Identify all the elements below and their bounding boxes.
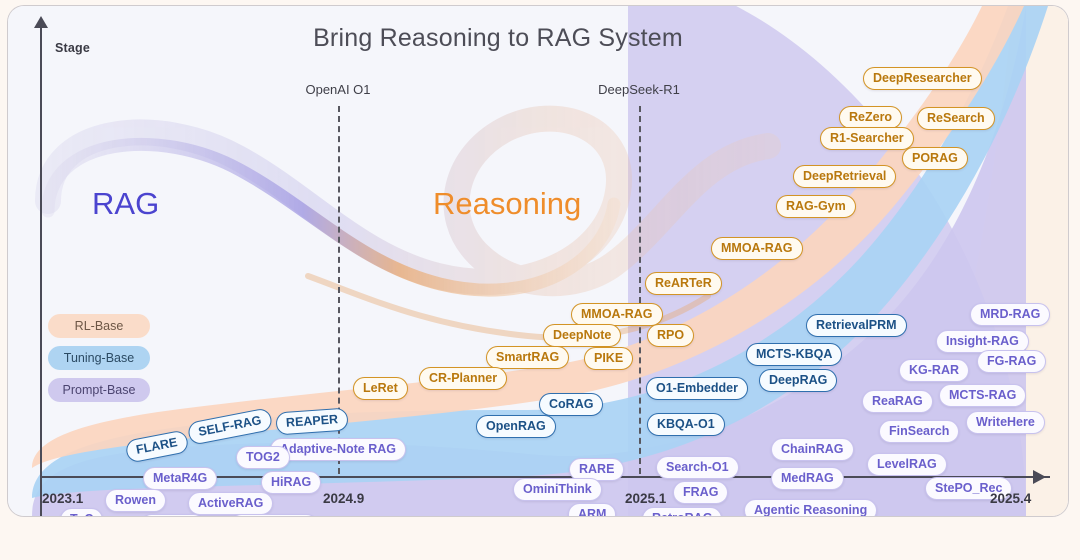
method-pill[interactable]: LeRet bbox=[353, 377, 408, 400]
event-marker-label: OpenAI O1 bbox=[305, 82, 370, 97]
method-pill[interactable]: WriteHere bbox=[966, 411, 1045, 434]
method-pill[interactable]: ReARTeR bbox=[645, 272, 722, 295]
method-pill[interactable]: MRD-RAG bbox=[970, 303, 1050, 326]
diagram-root: Stage Bring Reasoning to RAG System RAG … bbox=[0, 0, 1080, 560]
method-pill[interactable]: O1-Embedder bbox=[646, 377, 748, 400]
method-pill[interactable]: RetrievalPRM bbox=[806, 314, 907, 337]
method-pill[interactable]: ReSearch bbox=[917, 107, 995, 130]
method-pill[interactable]: PORAG bbox=[902, 147, 968, 170]
method-pill[interactable]: CR-Planner bbox=[419, 367, 507, 390]
method-pill[interactable]: RPO bbox=[647, 324, 694, 347]
method-pill[interactable]: Adaptive-Note RAG bbox=[270, 438, 406, 461]
method-pill[interactable]: KBQA-O1 bbox=[647, 413, 725, 436]
method-pill[interactable]: CoRAG bbox=[539, 393, 603, 416]
method-pill[interactable]: FinSearch bbox=[879, 420, 959, 443]
method-pill[interactable]: FRAG bbox=[673, 481, 728, 504]
method-pill[interactable]: R1-Searcher bbox=[820, 127, 914, 150]
method-pill[interactable]: ReaRAG bbox=[862, 390, 933, 413]
ribbon-word-rag: RAG bbox=[92, 186, 159, 222]
method-pill[interactable]: FG-RAG bbox=[977, 350, 1046, 373]
method-pill[interactable]: HiRAG bbox=[261, 471, 321, 494]
chart-panel: Stage Bring Reasoning to RAG System RAG … bbox=[8, 6, 1068, 516]
x-axis-tick: 2024.9 bbox=[323, 491, 364, 506]
method-pill[interactable]: CO-STORM bbox=[230, 514, 318, 516]
method-pill[interactable]: DeepRetrieval bbox=[793, 165, 896, 188]
legend-item-tuning-base[interactable]: Tuning-Base bbox=[48, 346, 150, 370]
method-pill[interactable]: Agentic Reasoning bbox=[744, 499, 877, 516]
method-pill[interactable]: DeepRAG bbox=[759, 369, 837, 392]
x-axis-tick: 2025.4 bbox=[990, 491, 1031, 506]
x-axis-tick: 2025.1 bbox=[625, 491, 666, 506]
method-pill[interactable]: DeepResearcher bbox=[863, 67, 982, 90]
method-pill[interactable]: STORM bbox=[140, 514, 205, 516]
method-pill[interactable]: ToC bbox=[60, 508, 103, 516]
page-title: Bring Reasoning to RAG System bbox=[8, 24, 1028, 53]
method-pill[interactable]: RetroRAG bbox=[642, 507, 722, 516]
method-pill[interactable]: TOG2 bbox=[236, 446, 290, 469]
method-pill[interactable]: RAG-Gym bbox=[776, 195, 856, 218]
method-pill[interactable]: ReZero bbox=[839, 106, 902, 129]
method-pill[interactable]: MedRAG bbox=[771, 467, 844, 490]
legend-item-prompt-base[interactable]: Prompt-Base bbox=[48, 378, 150, 402]
event-marker-label: DeepSeek-R1 bbox=[598, 82, 680, 97]
method-pill[interactable]: ChainRAG bbox=[771, 438, 854, 461]
legend-item-rl-base[interactable]: RL-Base bbox=[48, 314, 150, 338]
method-pill[interactable]: OpenRAG bbox=[476, 415, 556, 438]
x-axis-tick: 2023.1 bbox=[42, 491, 83, 506]
method-pill[interactable]: PIKE bbox=[584, 347, 633, 370]
method-pill[interactable]: MMOA-RAG bbox=[571, 303, 663, 326]
method-pill[interactable]: ARM bbox=[568, 503, 616, 516]
method-pill[interactable]: KG-RAR bbox=[899, 359, 969, 382]
method-pill[interactable]: ActiveRAG bbox=[188, 492, 273, 515]
ribbon-word-reasoning: Reasoning bbox=[433, 186, 581, 222]
legend: RL-BaseTuning-BasePrompt-Base bbox=[48, 314, 150, 410]
method-pill[interactable]: MetaR4G bbox=[143, 467, 217, 490]
method-pill[interactable]: LevelRAG bbox=[867, 453, 947, 476]
method-pill[interactable]: MMOA-RAG bbox=[711, 237, 803, 260]
method-pill[interactable]: MCTS-RAG bbox=[939, 384, 1026, 407]
method-pill[interactable]: Search-O1 bbox=[656, 456, 739, 479]
event-marker-line bbox=[639, 106, 641, 474]
x-axis-arrow-icon bbox=[1033, 470, 1046, 484]
method-pill[interactable]: DeepNote bbox=[543, 324, 621, 347]
method-pill[interactable]: MCTS-KBQA bbox=[746, 343, 842, 366]
y-axis bbox=[40, 24, 42, 516]
method-pill[interactable]: Rowen bbox=[105, 489, 166, 512]
method-pill[interactable]: SmartRAG bbox=[486, 346, 569, 369]
method-pill[interactable]: OminiThink bbox=[513, 478, 602, 501]
